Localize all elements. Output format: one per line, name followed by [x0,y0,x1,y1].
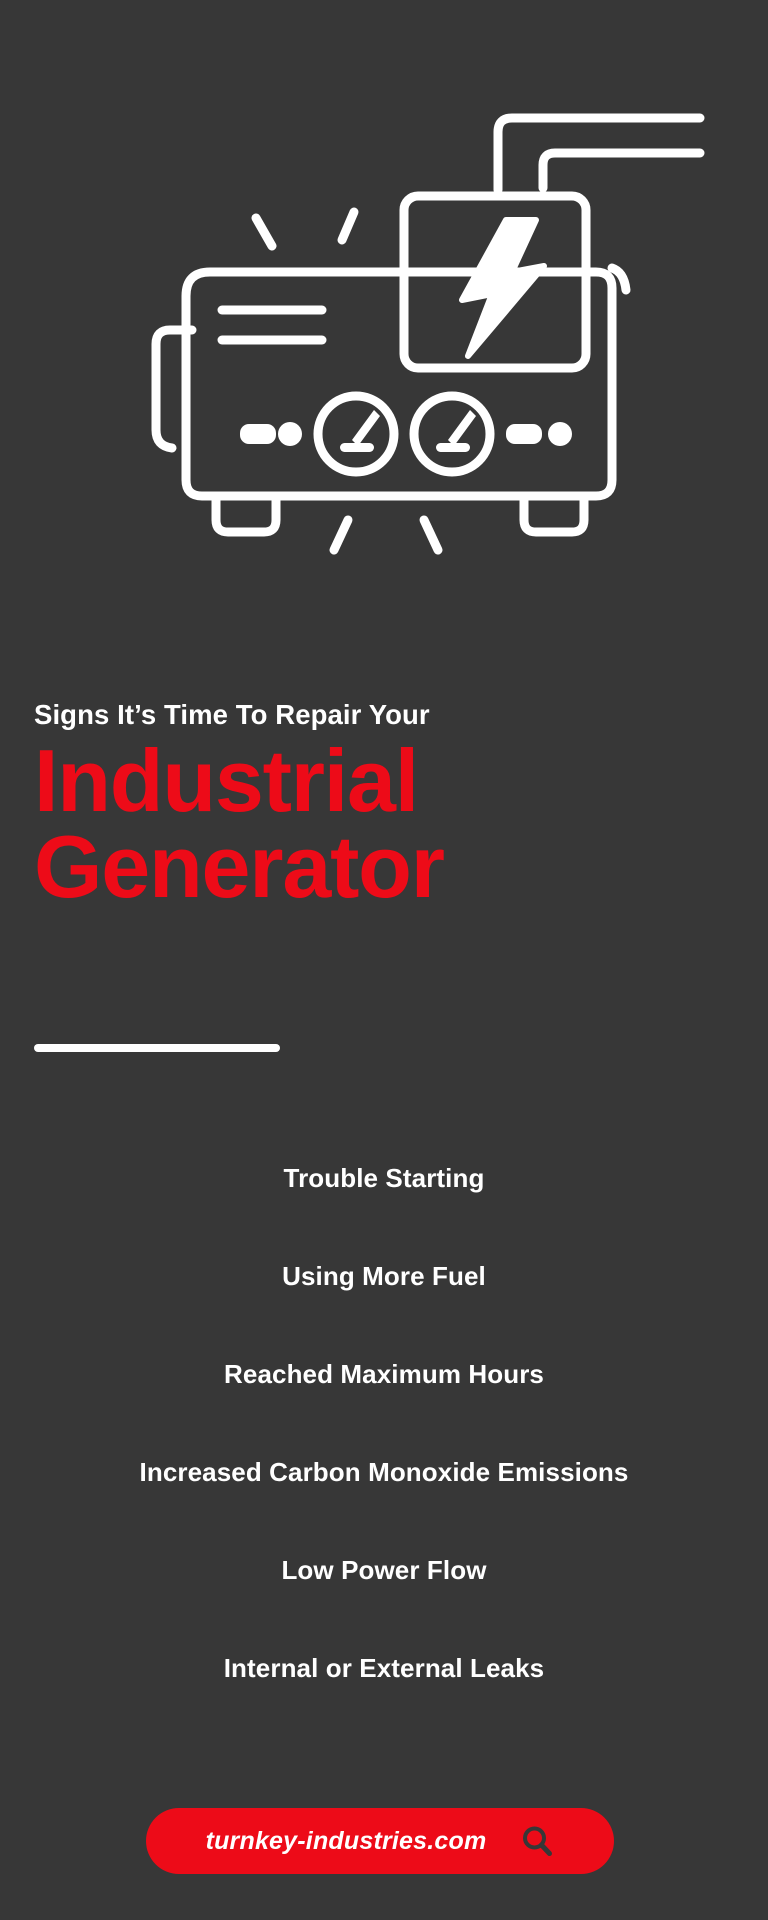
gauge-right [414,396,490,472]
gauge-right-base [436,443,470,452]
exhaust-pipe-inner [543,153,700,188]
spark-bottom-right [424,520,438,550]
list-item: Trouble Starting [0,1130,768,1228]
headline-line-1: Industrial [34,738,734,824]
gauge-right-needle [448,410,476,446]
infographic-page: Signs It’s Time To Repair Your Industria… [0,0,768,1920]
indicator-dot-right [548,422,572,446]
list-item: Internal or External Leaks [0,1620,768,1718]
spark-top-right [342,212,354,240]
list-item: Increased Carbon Monoxide Emissions [0,1424,768,1522]
page-title: Industrial Generator [34,738,734,910]
list-item: Reached Maximum Hours [0,1326,768,1424]
list-item: Using More Fuel [0,1228,768,1326]
spark-bottom-left [334,520,348,550]
foot-right [524,496,584,532]
title-divider [34,1044,280,1052]
spark-top-left [256,218,272,246]
website-url-label: turnkey-industries.com [206,1827,487,1856]
lightning-bolt-icon [462,220,544,356]
indicator-bar-right [506,424,542,444]
list-item: Low Power Flow [0,1522,768,1620]
gauge-left-needle [352,410,380,446]
signs-list: Trouble Starting Using More Fuel Reached… [0,1130,768,1718]
indicator-bar-left [240,424,276,444]
search-icon [520,1824,554,1858]
gauge-left [318,396,394,472]
indicator-lights-right [506,422,572,446]
heading-block: Signs It’s Time To Repair Your Industria… [34,700,734,911]
website-cta-button[interactable]: turnkey-industries.com [146,1808,614,1874]
eyebrow-text: Signs It’s Time To Repair Your [34,700,734,730]
gauge-needles [340,410,476,452]
indicator-dot-left [278,422,302,446]
indicator-lights-left [240,422,302,446]
gauge-left-base [340,443,374,452]
generator-illustration [0,0,768,700]
foot-left [216,496,276,532]
headline-line-2: Generator [34,824,734,910]
